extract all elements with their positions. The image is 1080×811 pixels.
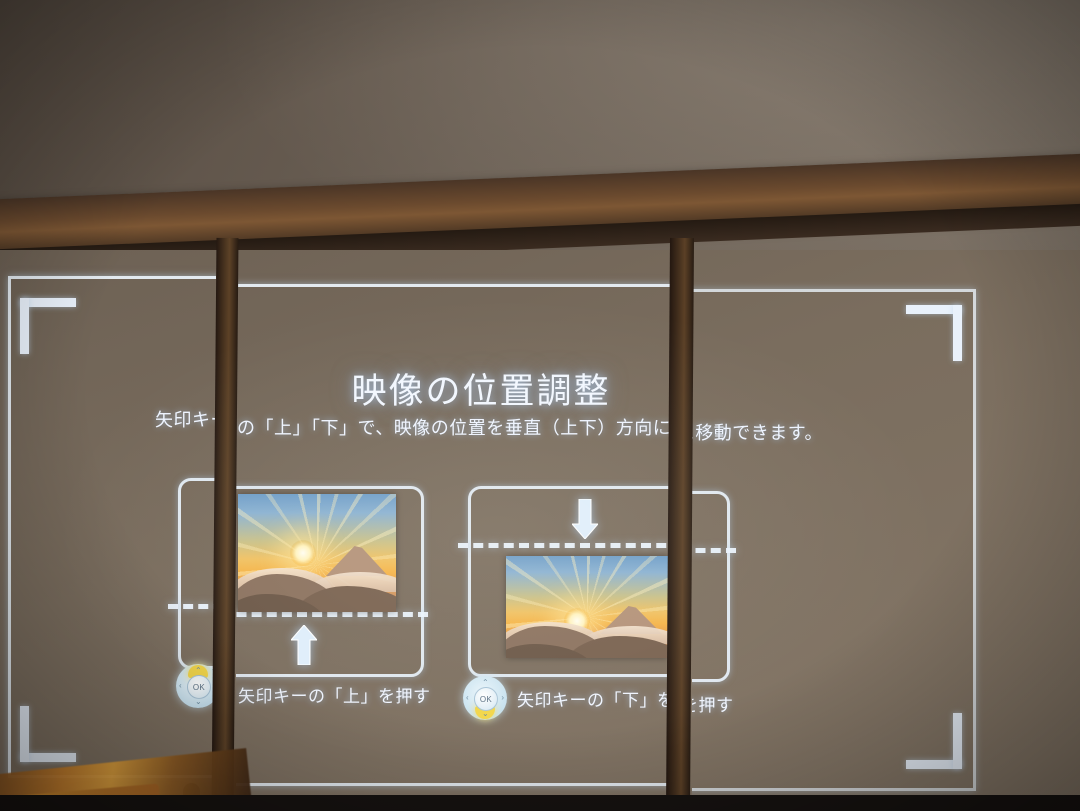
room-scene: 映像の位置調整 矢印キーの「上」「下」で、映像の位置を垂直（上下）方向に移動でき… bbox=[0, 0, 1080, 811]
sliding-door-surface bbox=[0, 250, 1080, 811]
floor-shadow bbox=[0, 795, 1080, 811]
door-stile-right bbox=[666, 238, 694, 811]
